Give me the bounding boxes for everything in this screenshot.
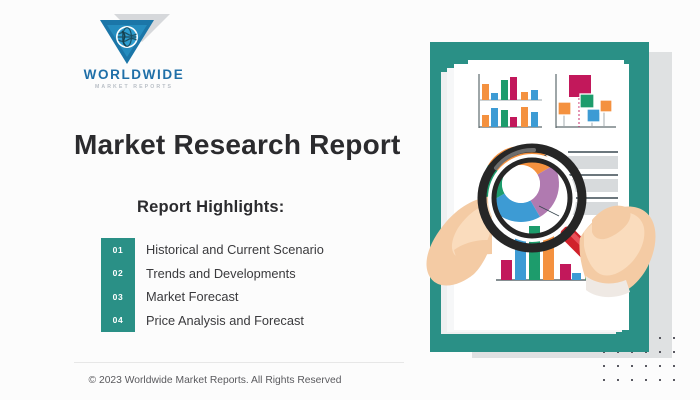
highlights-heading: Report Highlights: [137, 198, 285, 217]
right-hand-icon [574, 198, 660, 316]
chart-bar-left [479, 74, 542, 128]
footer-copyright: © 2023 Worldwide Market Reports. All Rig… [0, 375, 430, 386]
highlight-label: Market Forecast [146, 289, 238, 304]
highlight-number: 01 [101, 245, 135, 255]
brand-name: WORLDWIDE [74, 67, 194, 82]
left-content-column: WORLDWIDE MARKET REPORTS Market Research… [0, 0, 430, 400]
highlight-number: 02 [101, 268, 135, 278]
highlight-label: Historical and Current Scenario [146, 242, 324, 257]
list-item: 04 Price Analysis and Forecast [101, 309, 401, 333]
highlight-label: Trends and Developments [146, 266, 296, 281]
report-analysis-illustration [424, 42, 672, 358]
highlight-label: Price Analysis and Forecast [146, 313, 304, 328]
highlight-number: 03 [101, 292, 135, 302]
brand-logo: WORLDWIDE MARKET REPORTS [74, 12, 194, 96]
report-cover-page: WORLDWIDE MARKET REPORTS Market Research… [0, 0, 700, 400]
page-title: Market Research Report [74, 129, 401, 161]
list-item: 02 Trends and Developments [101, 262, 401, 286]
highlight-number: 04 [101, 315, 135, 325]
highlights-list: 01 Historical and Current Scenario 02 Tr… [101, 238, 401, 332]
list-item: 03 Market Forecast [101, 285, 401, 309]
brand-tagline: MARKET REPORTS [74, 84, 194, 90]
triangle-globe-logo-icon [92, 12, 174, 68]
chart-markers-right [556, 74, 616, 128]
footer-divider [74, 362, 404, 363]
list-item: 01 Historical and Current Scenario [101, 238, 401, 262]
